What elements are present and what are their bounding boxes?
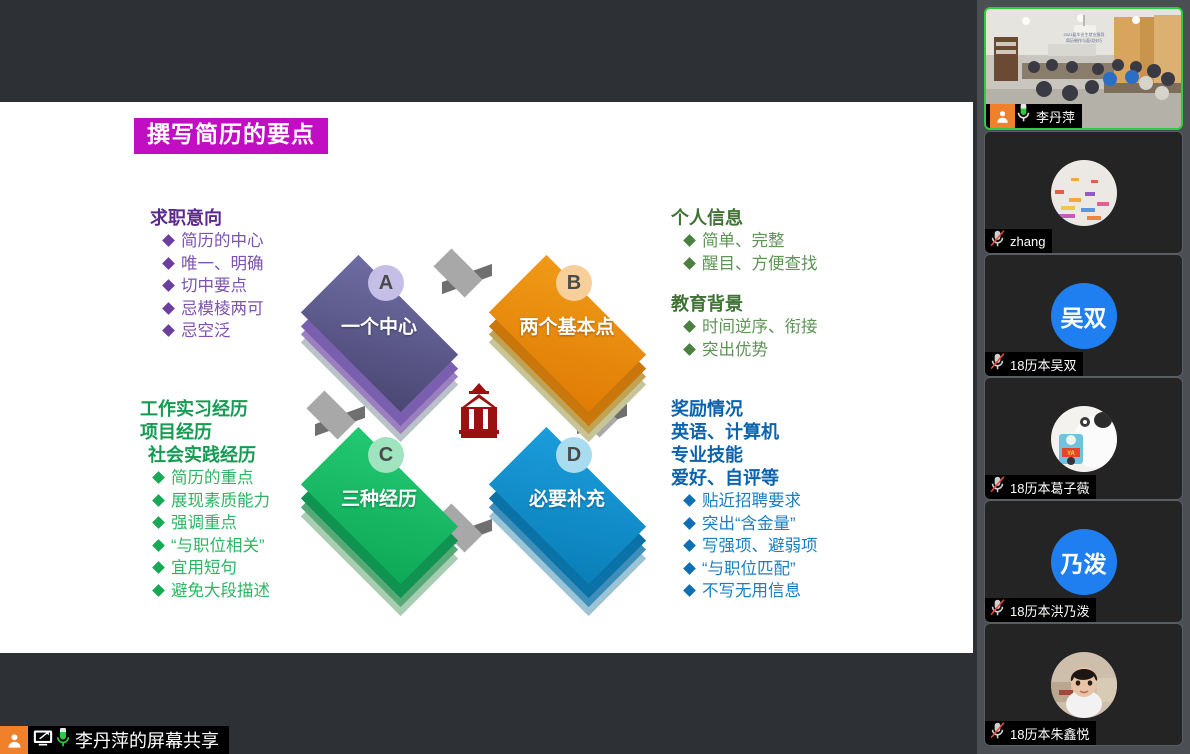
avatar-initials: 乃泼 xyxy=(1051,529,1117,595)
block-header: 项目经历 xyxy=(140,421,270,444)
avatar-photo: YA xyxy=(1051,406,1117,472)
text-block-personal-info: 个人信息 简单、完整 醒目、方便查找 xyxy=(671,207,818,275)
participant-nameplate: 18历本吴双 xyxy=(985,352,1083,376)
block-header: 社会实践经历 xyxy=(148,444,270,467)
diamond-bullet-icon xyxy=(162,234,175,247)
bullet-item: “与职位相关” xyxy=(140,535,270,558)
diamond-bullet-icon xyxy=(162,279,175,292)
share-status-label: 李丹萍的屏幕共享 xyxy=(75,727,219,753)
diamond-bullet-icon xyxy=(683,539,696,552)
block-letter-badge: D xyxy=(556,437,592,473)
mic-on-icon xyxy=(1015,104,1032,128)
bullet-item: 写强项、避弱项 xyxy=(671,535,818,558)
bullet-item: 忌空泛 xyxy=(150,320,264,343)
block-header: 个人信息 xyxy=(671,207,818,230)
bullet-label: 突出优势 xyxy=(702,339,768,362)
participant-nameplate: 李丹萍 xyxy=(986,104,1082,128)
text-block-work-experience: 工作实习经历 项目经历 社会实践经历 简历的重点 展现素质能力 强调重点 “与职… xyxy=(140,398,270,602)
block-header: 爱好、自评等 xyxy=(671,467,818,490)
bullet-item: 切中要点 xyxy=(150,275,264,298)
participant-tile[interactable]: YA 18历本葛子薇 xyxy=(984,377,1183,500)
isometric-diagram: A 一个中心 B 两个基本点 C xyxy=(281,241,661,591)
participant-tile[interactable]: 18历本朱鑫悦 xyxy=(984,623,1183,746)
bullet-label: “与职位相关” xyxy=(171,535,265,558)
bullet-item: 简历的中心 xyxy=(150,230,264,253)
mic-muted-icon xyxy=(989,229,1006,253)
bullet-label: 不写无用信息 xyxy=(702,580,801,603)
participant-tile[interactable]: 2021届毕业生就业指导 简历制作与面试技巧 李丹萍 xyxy=(984,7,1183,130)
avatar-photo xyxy=(1051,652,1117,718)
block-label: 一个中心 xyxy=(279,312,479,339)
participant-name: zhang xyxy=(1010,234,1045,249)
diamond-bullet-icon xyxy=(162,324,175,337)
bullet-item: 突出优势 xyxy=(671,339,818,362)
diamond-bullet-icon xyxy=(683,584,696,597)
participant-name: 18历本葛子薇 xyxy=(1010,478,1089,497)
text-block-education-background: 教育背景 时间逆序、衔接 突出优势 xyxy=(671,293,818,361)
svg-text:YA: YA xyxy=(1067,451,1075,457)
diamond-bullet-icon xyxy=(683,343,696,356)
block-header: 教育背景 xyxy=(671,293,818,316)
diamond-bullet-icon xyxy=(152,494,165,507)
bullet-label: 贴近招聘要求 xyxy=(702,490,801,513)
participant-tile[interactable]: zhang xyxy=(984,131,1183,254)
participant-name: 18历本朱鑫悦 xyxy=(1010,724,1089,743)
participant-tile[interactable]: 吴双 18历本吴双 xyxy=(984,254,1183,377)
share-taskbar[interactable]: 李丹萍的屏幕共享 xyxy=(0,726,229,754)
avatar-initials: 吴双 xyxy=(1051,283,1117,349)
mic-muted-icon xyxy=(989,598,1006,622)
bullet-item: 忌模棱两可 xyxy=(150,298,264,321)
bullet-label: 简历的中心 xyxy=(181,230,264,253)
block-letter-badge: C xyxy=(368,437,404,473)
participant-nameplate: zhang xyxy=(985,229,1052,253)
pillar-building-icon xyxy=(457,383,501,439)
participant-nameplate: 18历本葛子薇 xyxy=(985,475,1096,499)
block-letter-badge: A xyxy=(368,265,404,301)
screen-share-stage: 撰写简历的要点 求职意向 简历的中心 唯一、明确 切中要点 忌模棱两可 忌空泛 … xyxy=(0,0,977,754)
diamond-bullet-icon xyxy=(152,516,165,529)
bullet-item: 唯一、明确 xyxy=(150,253,264,276)
avatar-icon xyxy=(990,104,1015,129)
bullet-label: 展现素质能力 xyxy=(171,490,270,513)
bullet-label: 切中要点 xyxy=(181,275,247,298)
bullet-item: 简单、完整 xyxy=(671,230,818,253)
bullet-item: 时间逆序、衔接 xyxy=(671,316,818,339)
block-label: 三种经历 xyxy=(279,484,479,511)
mic-on-icon[interactable] xyxy=(54,728,72,753)
participant-name: 李丹萍 xyxy=(1036,107,1075,126)
bullet-item: “与职位匹配” xyxy=(671,558,818,581)
text-block-job-intention: 求职意向 简历的中心 唯一、明确 切中要点 忌模棱两可 忌空泛 xyxy=(150,207,264,343)
diamond-bullet-icon xyxy=(683,494,696,507)
share-status-bar[interactable]: 李丹萍的屏幕共享 xyxy=(28,726,229,754)
participant-nameplate: 18历本朱鑫悦 xyxy=(985,721,1096,745)
block-header: 求职意向 xyxy=(150,207,264,230)
participant-name: 18历本吴双 xyxy=(1010,355,1076,374)
slide-title: 撰写简历的要点 xyxy=(147,121,315,147)
bullet-item: 强调重点 xyxy=(140,512,270,535)
bullet-item: 贴近招聘要求 xyxy=(671,490,818,513)
block-header: 专业技能 xyxy=(671,444,818,467)
bullet-label: “与职位匹配” xyxy=(702,558,796,581)
bullet-item: 简历的重点 xyxy=(140,467,270,490)
participant-tile[interactable]: 乃泼 18历本洪乃泼 xyxy=(984,500,1183,623)
diamond-bullet-icon xyxy=(152,561,165,574)
diamond-bullet-icon xyxy=(152,471,165,484)
diamond-bullet-icon xyxy=(683,517,696,530)
mic-muted-icon xyxy=(989,475,1006,499)
diamond-bullet-icon xyxy=(683,562,696,575)
diamond-bullet-icon xyxy=(683,320,696,333)
block-label: 两个基本点 xyxy=(467,312,667,339)
bullet-label: 唯一、明确 xyxy=(181,253,264,276)
diamond-bullet-icon xyxy=(162,302,175,315)
participants-avatar-icon[interactable] xyxy=(0,726,28,754)
screen-share-icon[interactable] xyxy=(32,728,54,753)
diamond-bullet-icon xyxy=(152,539,165,552)
bullet-label: 避免大段描述 xyxy=(171,580,270,603)
participant-name: 18历本洪乃泼 xyxy=(1010,601,1089,620)
bullet-label: 醒目、方便查找 xyxy=(702,253,818,276)
bullet-item: 展现素质能力 xyxy=(140,490,270,513)
bullet-item: 宜用短句 xyxy=(140,557,270,580)
participant-nameplate: 18历本洪乃泼 xyxy=(985,598,1096,622)
participant-sidebar: 2021届毕业生就业指导 简历制作与面试技巧 李丹萍 xyxy=(977,0,1190,754)
block-letter-badge: B xyxy=(556,265,592,301)
bullet-label: 简单、完整 xyxy=(702,230,785,253)
diamond-bullet-icon xyxy=(162,257,175,270)
diamond-bullet-icon xyxy=(683,257,696,270)
slide-title-banner: 撰写简历的要点 xyxy=(134,118,328,154)
diamond-bullet-icon xyxy=(152,584,165,597)
zoom-meeting-window: 撰写简历的要点 求职意向 简历的中心 唯一、明确 切中要点 忌模棱两可 忌空泛 … xyxy=(0,0,1190,754)
bullet-item: 醒目、方便查找 xyxy=(671,253,818,276)
bullet-label: 忌空泛 xyxy=(181,320,231,343)
mic-muted-icon xyxy=(989,352,1006,376)
bullet-label: 突出“含金量” xyxy=(702,513,796,536)
svg-text:2021届毕业生就业指导: 2021届毕业生就业指导 xyxy=(1064,31,1105,37)
svg-text:简历制作与面试技巧: 简历制作与面试技巧 xyxy=(1066,37,1102,43)
shared-slide: 撰写简历的要点 求职意向 简历的中心 唯一、明确 切中要点 忌模棱两可 忌空泛 … xyxy=(0,102,973,653)
bullet-item: 避免大段描述 xyxy=(140,580,270,603)
mic-muted-icon xyxy=(989,721,1006,745)
avatar-photo xyxy=(1051,160,1117,226)
diamond-bullet-icon xyxy=(683,234,696,247)
bullet-label: 强调重点 xyxy=(171,512,237,535)
block-header: 工作实习经历 xyxy=(140,398,270,421)
bullet-label: 宜用短句 xyxy=(171,557,237,580)
diagram-block-c: C 三种经历 xyxy=(279,405,479,605)
bullet-item: 不写无用信息 xyxy=(671,580,818,603)
text-block-awards-skills: 奖励情况 英语、计算机 专业技能 爱好、自评等 贴近招聘要求 突出“含金量” 写… xyxy=(671,398,818,603)
bullet-label: 忌模棱两可 xyxy=(181,298,264,321)
bullet-item: 突出“含金量” xyxy=(671,513,818,536)
bullet-label: 写强项、避弱项 xyxy=(702,535,818,558)
bullet-label: 时间逆序、衔接 xyxy=(702,316,818,339)
block-header: 奖励情况 xyxy=(671,398,818,421)
block-label: 必要补充 xyxy=(467,484,667,511)
bullet-label: 简历的重点 xyxy=(171,467,254,490)
block-header: 英语、计算机 xyxy=(671,421,818,444)
